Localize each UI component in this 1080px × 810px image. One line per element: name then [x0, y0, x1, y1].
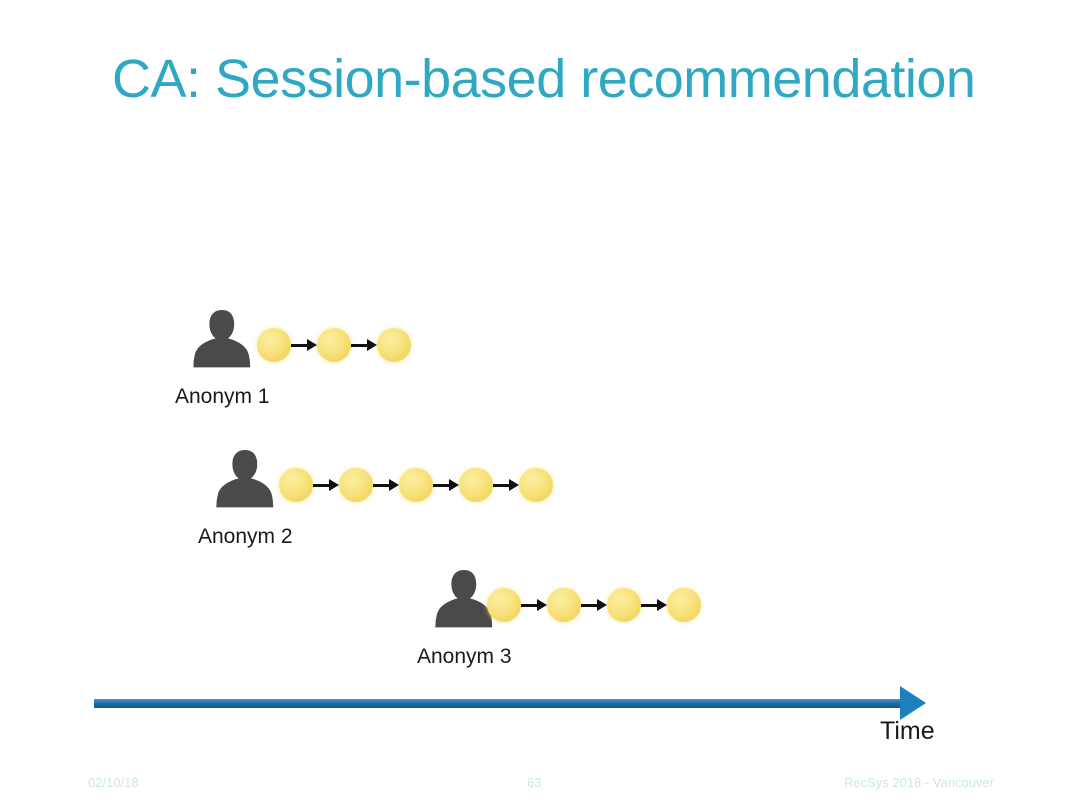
time-axis-label: Time: [880, 717, 935, 746]
session-transition-arrow-icon: [581, 600, 607, 610]
footer-date: 02/10/18: [88, 775, 139, 790]
page-title: CA: Session-based recommendation: [112, 48, 975, 110]
session-person-label: Anonym 2: [198, 525, 293, 549]
session-item-node: [339, 468, 373, 502]
slide-canvas: CA: Session-based recommendation Anonym …: [0, 0, 1080, 810]
session-transition-arrow-icon: [493, 480, 519, 490]
session-person-label: Anonym 1: [175, 385, 270, 409]
session-transition-arrow-icon: [641, 600, 667, 610]
session-item-node: [519, 468, 553, 502]
session-chain-1: [257, 328, 411, 362]
session-item-node: [487, 588, 521, 622]
session-chain-2: [279, 468, 553, 502]
session-chain-3: [487, 588, 701, 622]
session-item-node: [547, 588, 581, 622]
session-transition-arrow-icon: [313, 480, 339, 490]
time-axis-arrowhead: [900, 686, 926, 720]
session-item-node: [607, 588, 641, 622]
session-item-node: [257, 328, 291, 362]
time-axis-shaft: [94, 699, 900, 708]
session-person-1: Anonym 1: [175, 306, 270, 409]
session-item-node: [667, 588, 701, 622]
session-item-node: [399, 468, 433, 502]
session-person-label: Anonym 3: [417, 645, 512, 669]
session-transition-arrow-icon: [351, 340, 377, 350]
session-item-node: [459, 468, 493, 502]
footer-event-name: RecSys 2018 - Vancouver: [844, 775, 994, 790]
time-axis-arrow: [94, 686, 926, 720]
session-transition-arrow-icon: [291, 340, 317, 350]
session-transition-arrow-icon: [521, 600, 547, 610]
footer-page-number: 63: [527, 775, 541, 790]
person-silhouette-icon: [175, 306, 270, 383]
session-transition-arrow-icon: [433, 480, 459, 490]
session-item-node: [317, 328, 351, 362]
session-item-node: [377, 328, 411, 362]
session-item-node: [279, 468, 313, 502]
session-transition-arrow-icon: [373, 480, 399, 490]
